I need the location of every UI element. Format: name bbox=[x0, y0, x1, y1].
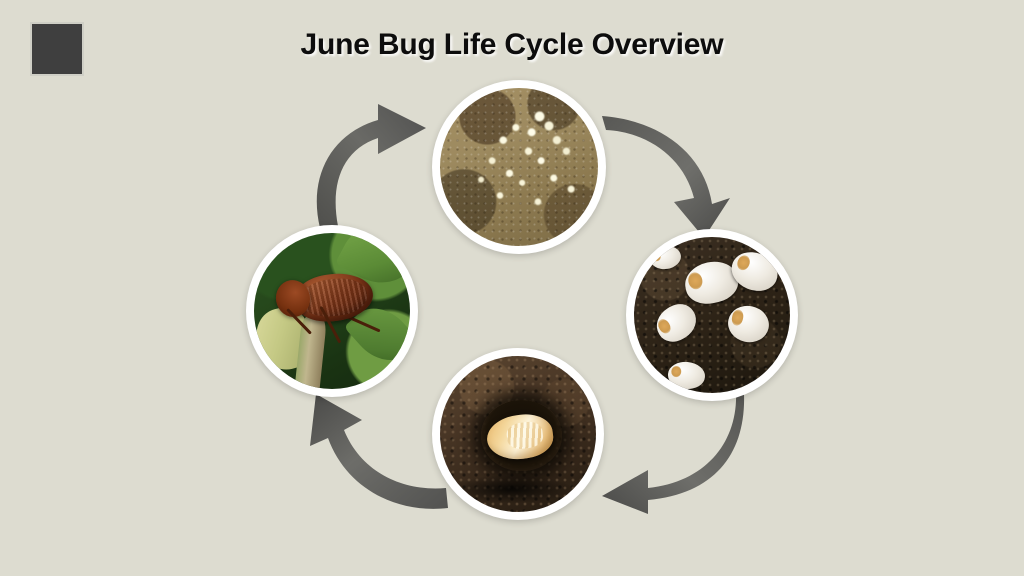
curved-arrow-up-left-icon bbox=[300, 390, 450, 515]
cycle-stage-pupa[interactable] bbox=[432, 348, 604, 520]
soil-crack bbox=[452, 475, 571, 503]
cycle-stage-adult[interactable] bbox=[246, 225, 418, 397]
page-title: June Bug Life Cycle Overview bbox=[0, 28, 1024, 62]
cycle-stage-larva[interactable] bbox=[626, 229, 798, 401]
curved-arrow-left-icon bbox=[596, 390, 746, 515]
cycle-stage-egg[interactable] bbox=[432, 80, 606, 254]
egg-cluster bbox=[440, 88, 598, 246]
slide-canvas: June Bug Life Cycle Overview bbox=[0, 0, 1024, 576]
june-bug-pupa-photo bbox=[440, 356, 596, 512]
adult-june-bug-beetle-photo bbox=[254, 233, 410, 389]
curved-arrow-up-right-icon bbox=[300, 100, 440, 230]
curved-arrow-down-right-icon bbox=[600, 110, 750, 240]
june-bug-eggs-photo bbox=[440, 88, 598, 246]
june-bug-grubs-photo bbox=[634, 237, 790, 393]
